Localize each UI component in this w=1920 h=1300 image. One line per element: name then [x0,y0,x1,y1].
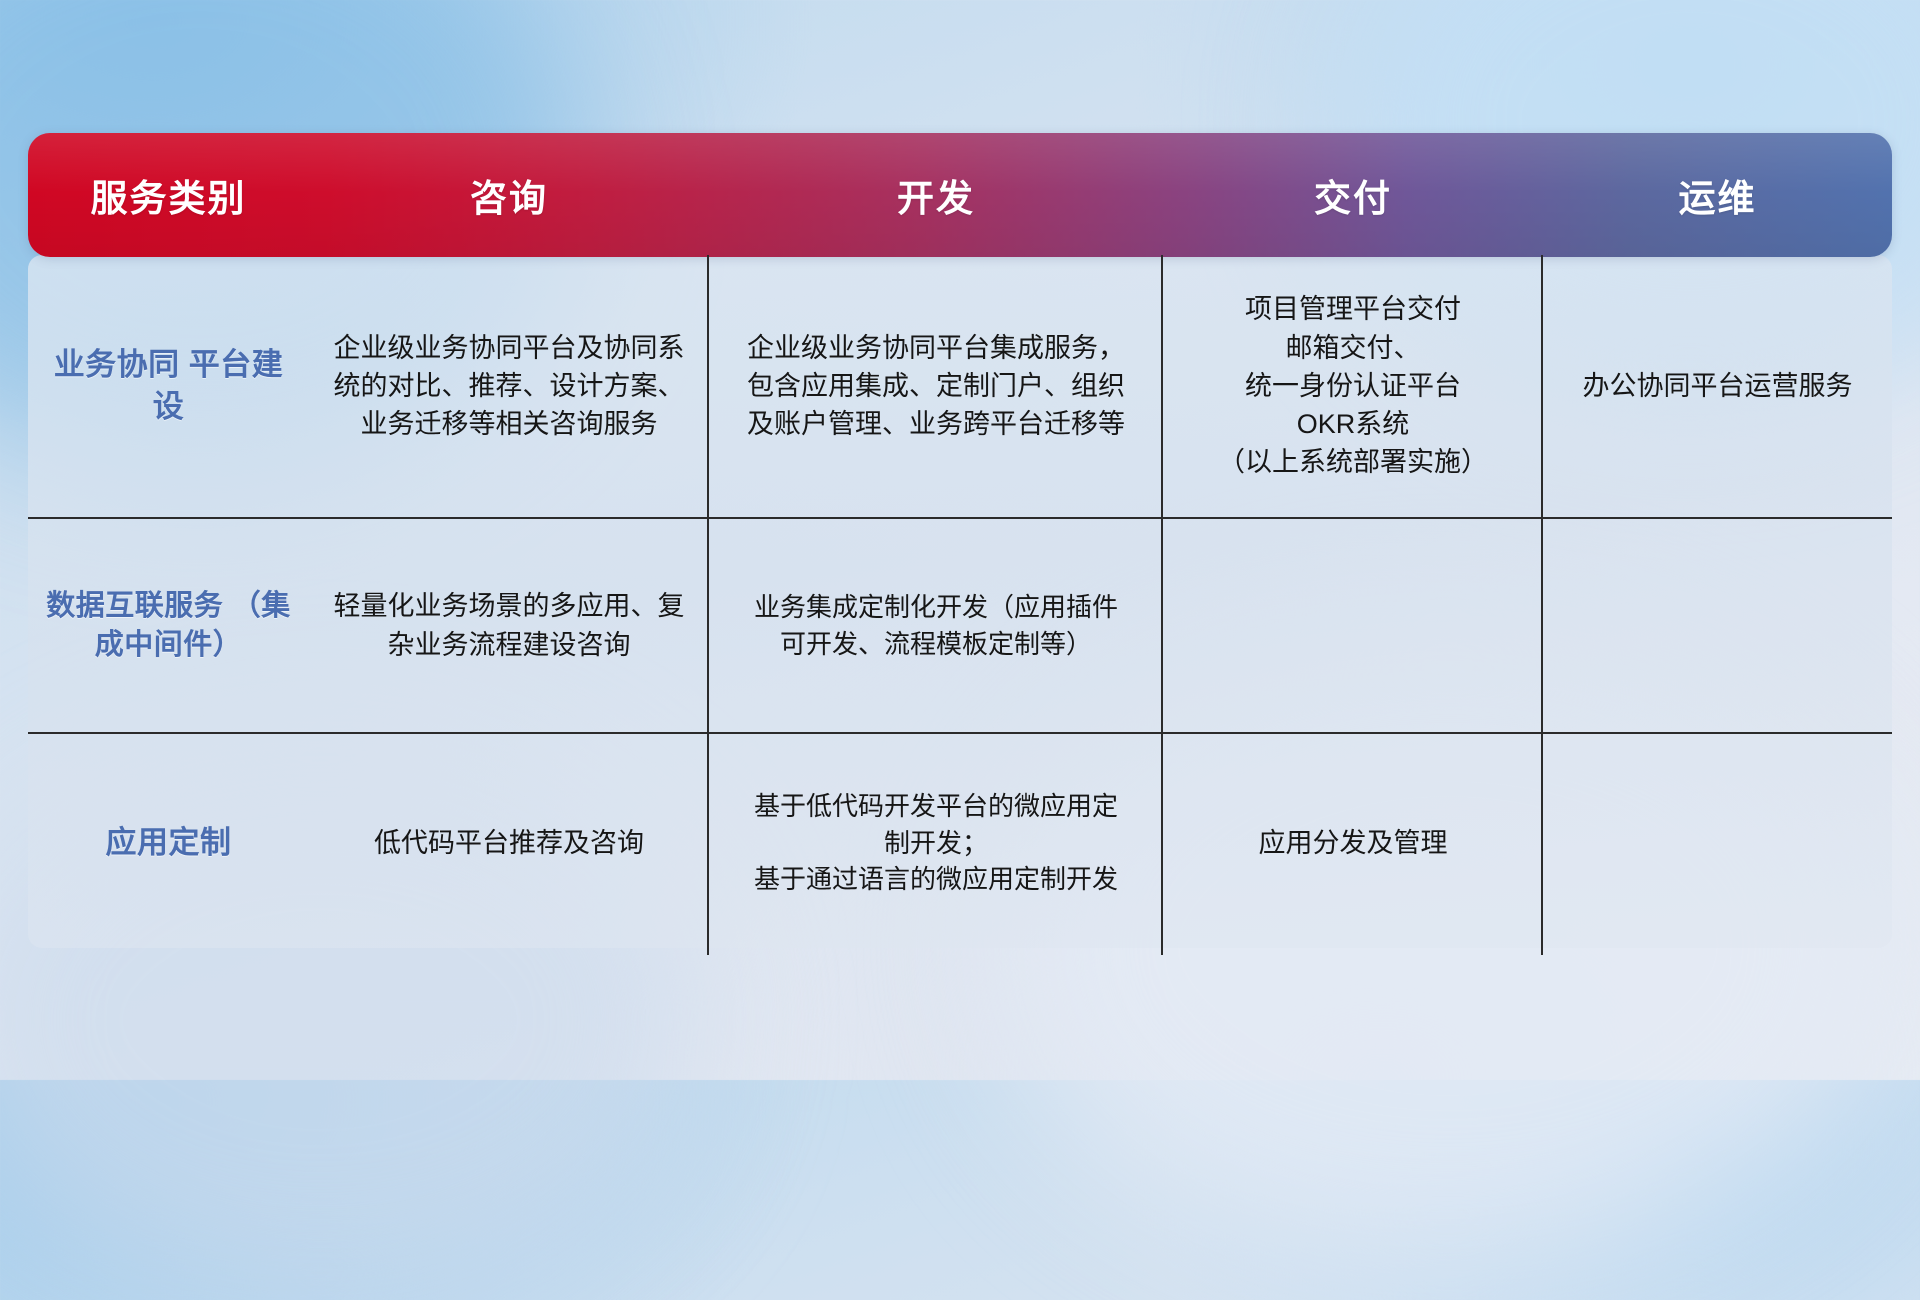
table-body: 业务协同 平台建设 企业级业务协同平台及协同系 统的对比、推荐、设计方案、 业务… [28,255,1892,952]
table-row: 应用定制 低代码平台推荐及咨询 基于低代码开发平台的微应用定 制开发； 基于通过… [28,734,1892,952]
table-header-delivery: 交付 [1163,168,1543,222]
cell-text: 基于低代码开发平台的微应用定 制开发； 基于通过语言的微应用定制开发 [754,788,1118,899]
cell-text: 低代码平台推荐及咨询 [374,824,644,862]
cell-consulting: 企业级业务协同平台及协同系 统的对比、推荐、设计方案、 业务迁移等相关咨询服务 [309,255,709,517]
cell-operations [1543,734,1892,952]
cell-operations [1543,519,1892,732]
table-row: 业务协同 平台建设 企业级业务协同平台及协同系 统的对比、推荐、设计方案、 业务… [28,255,1892,519]
cell-category: 应用定制 [28,734,309,952]
cell-delivery: 项目管理平台交付 邮箱交付、 统一身份认证平台 OKR系统 （以上系统部署实施） [1163,255,1543,517]
cell-consulting: 轻量化业务场景的多应用、复 杂业务流程建设咨询 [309,519,709,732]
cell-operations: 办公协同平台运营服务 [1543,255,1892,517]
category-label: 业务协同 平台建设 [44,344,293,427]
category-label: 应用定制 [106,822,232,864]
table-header-service-category: 服务类别 [28,168,309,222]
cell-category: 数据互联服务 （集成中间件） [28,519,309,732]
cell-text: 业务集成定制化开发（应用插件 可开发、流程模板定制等） [754,589,1118,663]
cell-delivery [1163,519,1543,732]
table-header-operations: 运维 [1543,168,1892,222]
table-row: 数据互联服务 （集成中间件） 轻量化业务场景的多应用、复 杂业务流程建设咨询 业… [28,519,1892,734]
cell-consulting: 低代码平台推荐及咨询 [309,734,709,952]
table-header-consulting: 咨询 [309,168,709,222]
cell-text: 办公协同平台运营服务 [1583,367,1853,405]
cell-text: 企业级业务协同平台及协同系 统的对比、推荐、设计方案、 业务迁移等相关咨询服务 [334,329,685,444]
table-header-row: 服务类别 咨询 开发 交付 运维 [28,133,1892,257]
category-label: 数据互联服务 （集成中间件） [44,587,293,665]
service-matrix-table: 服务类别 咨询 开发 交付 运维 业务协同 平台建设 企业级业务协同平台及协同系… [28,133,1892,948]
cell-text: 企业级业务协同平台集成服务， 包含应用集成、定制门户、组织 及账户管理、业务跨平… [747,329,1125,444]
cell-category: 业务协同 平台建设 [28,255,309,517]
cell-text: 应用分发及管理 [1259,824,1448,862]
cell-development: 业务集成定制化开发（应用插件 可开发、流程模板定制等） [709,519,1163,732]
cell-text: 轻量化业务场景的多应用、复 杂业务流程建设咨询 [334,587,685,664]
table-header-development: 开发 [709,168,1163,222]
cell-development: 基于低代码开发平台的微应用定 制开发； 基于通过语言的微应用定制开发 [709,734,1163,952]
cell-delivery: 应用分发及管理 [1163,734,1543,952]
cell-text: 项目管理平台交付 邮箱交付、 统一身份认证平台 OKR系统 （以上系统部署实施） [1218,290,1488,482]
cell-development: 企业级业务协同平台集成服务， 包含应用集成、定制门户、组织 及账户管理、业务跨平… [709,255,1163,517]
